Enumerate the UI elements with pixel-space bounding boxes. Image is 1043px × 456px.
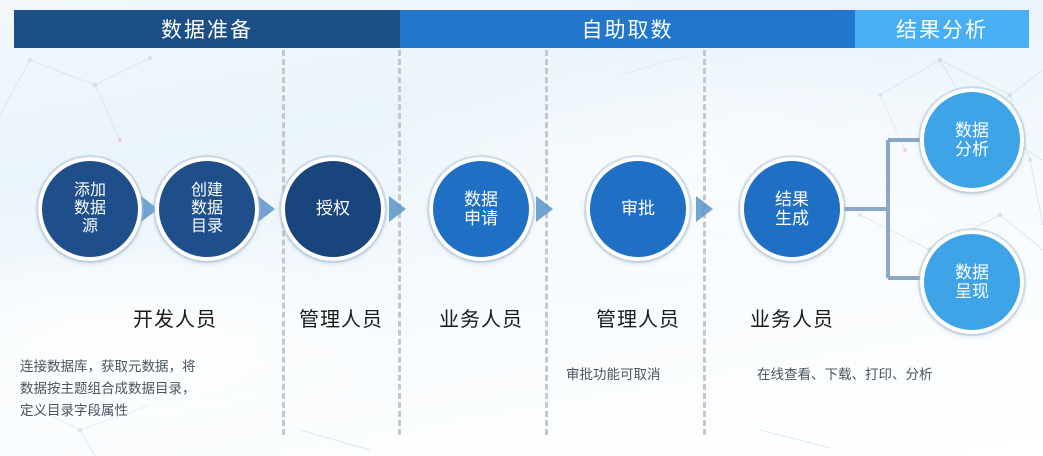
node-approval[interactable]: 审批 bbox=[586, 157, 690, 261]
flowchart-diagram: 数据准备 自助取数 结果分析 添加数据源 创建数据目录 bbox=[0, 0, 1043, 456]
phase-band-row: 数据准备 自助取数 结果分析 bbox=[14, 10, 1029, 48]
role-text: 开发人员 bbox=[133, 309, 217, 331]
step-arrow-3 bbox=[389, 196, 406, 222]
phase-band-label: 结果分析 bbox=[896, 14, 988, 44]
node-label: 结果生成 bbox=[771, 190, 813, 228]
node-result-generate[interactable]: 结果生成 bbox=[740, 157, 844, 261]
role-label-business-1: 业务人员 bbox=[433, 303, 529, 332]
phase-band-label: 自助取数 bbox=[582, 14, 674, 44]
node-label: 数据呈现 bbox=[951, 263, 993, 301]
description-analysis: 在线查看、下载、打印、分析 bbox=[757, 364, 987, 386]
description-approval: 审批功能可取消 bbox=[566, 364, 726, 386]
node-label: 审批 bbox=[617, 199, 659, 218]
role-label-admin-1: 管理人员 bbox=[293, 303, 389, 332]
step-arrow-4 bbox=[536, 196, 553, 222]
node-data-analysis[interactable]: 数据分析 bbox=[920, 88, 1024, 192]
node-authorize[interactable]: 授权 bbox=[281, 157, 385, 261]
step-arrow-2 bbox=[258, 196, 275, 222]
node-label: 授权 bbox=[312, 199, 354, 218]
phase-band-data-prep: 数据准备 bbox=[14, 10, 400, 48]
lane-separator-1 bbox=[282, 50, 285, 435]
lane-separator-2 bbox=[398, 50, 401, 435]
description-data-prep: 连接数据库，获取元数据，将数据按主题组合成数据目录，定义目录字段属性 bbox=[20, 356, 270, 422]
phase-band-result-analysis: 结果分析 bbox=[855, 10, 1029, 48]
step-arrow-5 bbox=[696, 196, 713, 222]
phase-band-label: 数据准备 bbox=[161, 14, 253, 44]
node-add-datasource[interactable]: 添加数据源 bbox=[38, 157, 142, 261]
role-text: 管理人员 bbox=[299, 309, 383, 331]
node-create-catalog[interactable]: 创建数据目录 bbox=[155, 157, 259, 261]
node-label: 数据申请 bbox=[460, 190, 502, 228]
lane-separator-3 bbox=[545, 50, 548, 435]
node-label: 添加数据源 bbox=[70, 182, 110, 236]
role-text: 业务人员 bbox=[439, 309, 523, 331]
role-label-developer: 开发人员 bbox=[85, 303, 265, 332]
node-data-request[interactable]: 数据申请 bbox=[429, 157, 533, 261]
node-label: 数据分析 bbox=[951, 121, 993, 159]
node-label: 创建数据目录 bbox=[187, 182, 227, 236]
node-data-present[interactable]: 数据呈现 bbox=[920, 230, 1024, 334]
role-text: 业务人员 bbox=[750, 309, 834, 331]
phase-band-self-service: 自助取数 bbox=[400, 10, 855, 48]
role-label-admin-2: 管理人员 bbox=[590, 303, 686, 332]
role-text: 管理人员 bbox=[596, 309, 680, 331]
role-label-business-2: 业务人员 bbox=[744, 303, 840, 332]
